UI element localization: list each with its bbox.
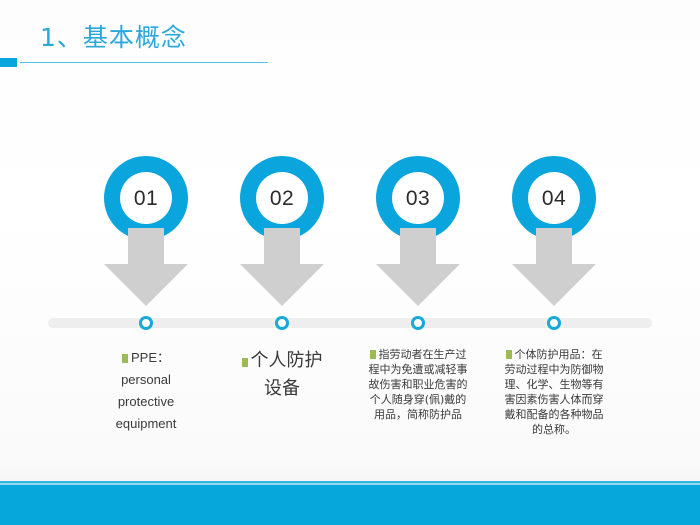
step-02-track-dot	[275, 316, 289, 330]
square-bullet-icon	[370, 350, 376, 359]
caption-line: equipment	[86, 413, 206, 435]
step-03-ring-inner: 03	[392, 172, 444, 224]
step-01-ring-inner: 01	[120, 172, 172, 224]
down-arrow-icon	[510, 228, 598, 308]
caption-line: 戴和配备的各种物品	[490, 407, 618, 422]
down-arrow-icon	[374, 228, 462, 308]
caption-line: 理、化学、生物等有	[490, 377, 618, 392]
title-underline	[20, 62, 268, 63]
caption-line: PPE：	[86, 347, 206, 369]
caption-line: 设备	[217, 375, 347, 403]
step-01-caption: PPE： personal protective equipment	[86, 347, 206, 435]
step-03-caption: 指劳动者在生产过 程中为免遭或减轻事 故伤害和职业危害的 个人随身穿(佩)戴的 …	[356, 347, 480, 422]
caption-line: 害因素伤害人体而穿	[490, 392, 618, 407]
caption-line: 故伤害和职业危害的	[356, 377, 480, 392]
caption-line: 的总称。	[490, 422, 618, 437]
step-04-ring-inner: 04	[528, 172, 580, 224]
caption-line: personal	[86, 369, 206, 391]
step-03-track-dot	[411, 316, 425, 330]
step-02-number: 02	[270, 188, 294, 209]
step-04-track-dot	[547, 316, 561, 330]
page-title: 1、基本概念	[40, 18, 187, 54]
step-03-number: 03	[406, 188, 430, 209]
slide-canvas: 1、基本概念 01 PPE： personal protective equip…	[0, 0, 700, 525]
caption-line: 个人随身穿(佩)戴的	[356, 392, 480, 407]
step-04-caption: 个体防护用品：在 劳动过程中为防御物 理、化学、生物等有 害因素伤害人体而穿 戴…	[490, 347, 618, 437]
caption-line: 个人防护	[217, 347, 347, 375]
square-bullet-icon	[122, 354, 128, 363]
down-arrow-icon	[238, 228, 326, 308]
title-accent-block	[0, 58, 17, 67]
caption-line: 用品，简称防护品	[356, 407, 480, 422]
step-01-number: 01	[134, 188, 158, 209]
step-01-track-dot	[139, 316, 153, 330]
step-02-ring-inner: 02	[256, 172, 308, 224]
square-bullet-icon	[242, 358, 248, 367]
down-arrow-icon	[102, 228, 190, 308]
caption-line: 个体防护用品：在	[490, 347, 618, 362]
caption-line: 指劳动者在生产过	[356, 347, 480, 362]
caption-line: 劳动过程中为防御物	[490, 362, 618, 377]
step-02-caption: 个人防护 设备	[217, 347, 347, 403]
caption-line: protective	[86, 391, 206, 413]
footer-band	[0, 485, 700, 525]
square-bullet-icon	[506, 350, 512, 359]
step-04-number: 04	[542, 188, 566, 209]
caption-line: 程中为免遭或减轻事	[356, 362, 480, 377]
